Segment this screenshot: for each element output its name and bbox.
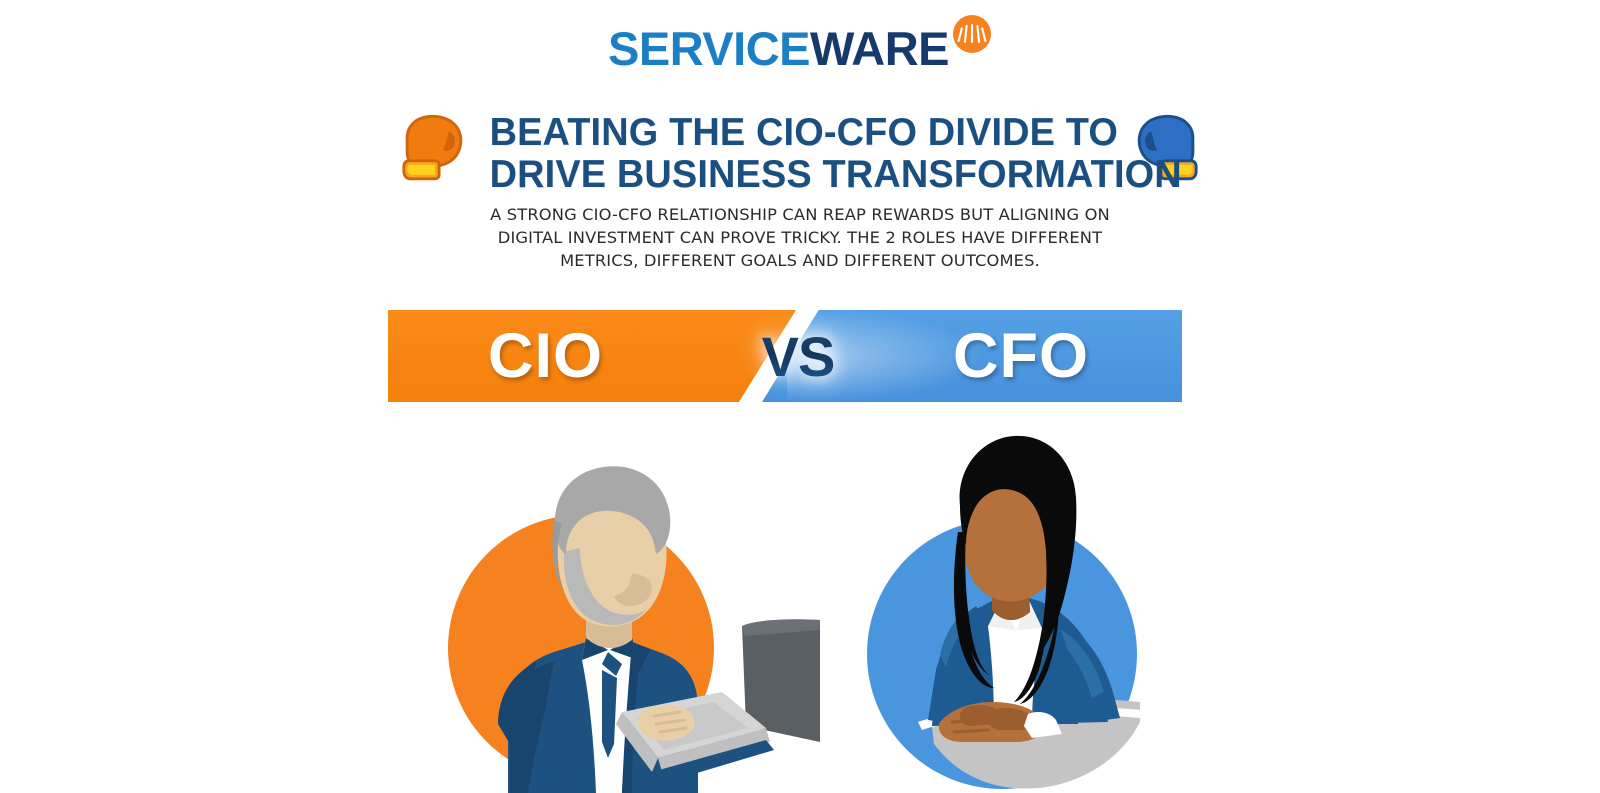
banner-label-cfo: CFO bbox=[953, 325, 1089, 388]
brand-logo[interactable]: SERVICEWARE bbox=[0, 14, 1600, 72]
logo-text-ware: WARE bbox=[810, 25, 949, 72]
banner-half-cio: CIO bbox=[388, 310, 796, 402]
logo-text-service: SERVICE bbox=[608, 25, 810, 72]
banner-label-vs: VS bbox=[762, 324, 835, 389]
subtitle-line-2: DIGITAL INVESTMENT CAN PROVE TRICKY. THE… bbox=[0, 226, 1600, 249]
orange-boxing-glove-icon bbox=[394, 105, 476, 187]
page-subtitle: A STRONG CIO-CFO RELATIONSHIP CAN REAP R… bbox=[0, 203, 1600, 272]
subtitle-line-1: A STRONG CIO-CFO RELATIONSHIP CAN REAP R… bbox=[0, 203, 1600, 226]
banner-vs-divider: VS bbox=[743, 310, 853, 402]
cio-portrait-svg bbox=[436, 424, 820, 793]
headline-line-2: DRIVE BUSINESS TRANSFORMATION bbox=[490, 154, 1111, 196]
banner-label-cio: CIO bbox=[488, 325, 603, 388]
subtitle-line-3: METRICS, DIFFERENT GOALS AND DIFFERENT O… bbox=[0, 249, 1600, 272]
cfo-portrait-illustration bbox=[852, 422, 1152, 793]
headline-block: BEATING THE CIO-CFO DIVIDE TO DRIVE BUSI… bbox=[0, 104, 1600, 195]
cio-vs-cfo-banner: CIO CFO VS bbox=[388, 310, 1182, 402]
page-title: BEATING THE CIO-CFO DIVIDE TO DRIVE BUSI… bbox=[490, 104, 1111, 195]
serviceware-fan-icon bbox=[952, 14, 992, 54]
headline-line-1: BEATING THE CIO-CFO DIVIDE TO bbox=[490, 112, 1111, 154]
cio-portrait-illustration bbox=[436, 424, 820, 793]
cfo-portrait-svg bbox=[852, 422, 1152, 793]
